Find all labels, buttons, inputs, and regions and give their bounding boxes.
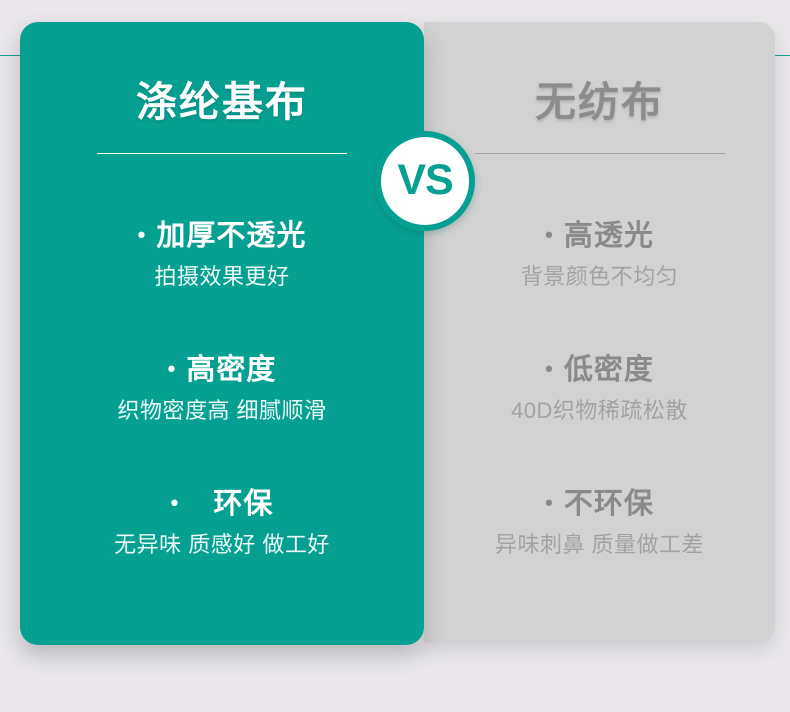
bullet-icon: •	[545, 355, 554, 383]
bullet-icon: •	[171, 489, 180, 517]
bullet-icon: •	[545, 221, 554, 249]
con-feature-title-text-2: 低密度	[564, 354, 654, 386]
pro-feature-title-text-2: 高密度	[186, 354, 276, 386]
con-card-header: 无纺布	[424, 80, 775, 154]
con-feature-item-3: •不环保 异味刺鼻 质量做工差	[424, 486, 775, 560]
comparison-stage: 涤纶基布 •加厚不透光 拍摄效果更好 •高密度 织物密度高 细腻顺滑 •环保	[0, 0, 790, 712]
con-feature-item-2: •低密度 40D织物稀疏松散	[424, 352, 775, 426]
pro-comparison-card: 涤纶基布 •加厚不透光 拍摄效果更好 •高密度 织物密度高 细腻顺滑 •环保	[20, 22, 424, 645]
pro-feature-subtitle-1: 拍摄效果更好	[20, 263, 424, 292]
con-feature-title-3: •不环保	[424, 486, 775, 522]
pro-feature-title-1: •加厚不透光	[20, 218, 424, 254]
pro-feature-subtitle-3: 无异味 质感好 做工好	[20, 531, 424, 560]
pro-card-title: 涤纶基布	[20, 80, 424, 125]
pro-title-underline	[97, 153, 347, 154]
con-feature-item-1: •高透光 背景颜色不均匀	[424, 218, 775, 292]
con-card-title: 无纺布	[424, 80, 775, 125]
con-feature-subtitle-3: 异味刺鼻 质量做工差	[424, 531, 775, 560]
con-feature-title-text-1: 高透光	[564, 220, 654, 252]
con-feature-title-1: •高透光	[424, 218, 775, 254]
pro-card-header: 涤纶基布	[20, 80, 424, 154]
pro-feature-title-text-1: 加厚不透光	[156, 220, 306, 252]
pro-feature-item-2: •高密度 织物密度高 细腻顺滑	[20, 352, 424, 426]
pro-feature-list: •加厚不透光 拍摄效果更好 •高密度 织物密度高 细腻顺滑 •环保 无异味 质感…	[20, 218, 424, 620]
con-feature-list: •高透光 背景颜色不均匀 •低密度 40D织物稀疏松散 •不环保 异味刺鼻 质量…	[424, 218, 775, 620]
pro-feature-item-1: •加厚不透光 拍摄效果更好	[20, 218, 424, 292]
bullet-icon: •	[138, 221, 147, 249]
con-feature-subtitle-2: 40D织物稀疏松散	[424, 397, 775, 426]
pro-feature-item-3: •环保 无异味 质感好 做工好	[20, 486, 424, 560]
versus-badge-label: VS	[397, 159, 452, 202]
bullet-icon: •	[168, 355, 177, 383]
versus-badge-ring: VS	[381, 137, 469, 225]
pro-feature-title-text-3: 环保	[213, 488, 273, 520]
pro-feature-subtitle-2: 织物密度高 细腻顺滑	[20, 397, 424, 426]
bullet-icon: •	[545, 489, 554, 517]
versus-badge: VS	[375, 131, 475, 231]
con-feature-title-text-3: 不环保	[564, 488, 654, 520]
con-feature-subtitle-1: 背景颜色不均匀	[424, 263, 775, 292]
con-feature-title-2: •低密度	[424, 352, 775, 388]
pro-feature-title-3: •环保	[20, 486, 424, 522]
con-title-underline	[475, 153, 725, 154]
con-comparison-card: 无纺布 •高透光 背景颜色不均匀 •低密度 40D织物稀疏松散 •不环保	[424, 22, 775, 643]
pro-feature-title-2: •高密度	[20, 352, 424, 388]
